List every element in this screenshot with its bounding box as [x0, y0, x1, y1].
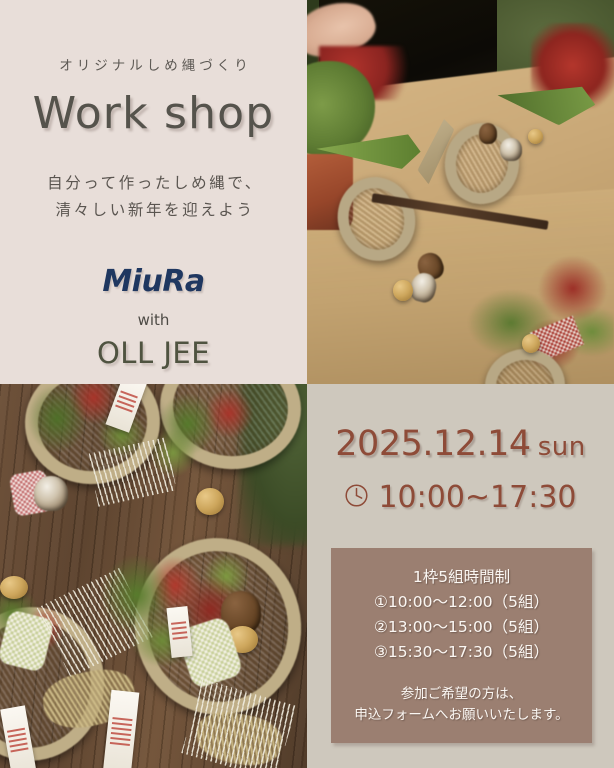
workshop-poster: オリジナルしめ縄づくり Work shop 自分って作ったしめ縄で、 清々しい新… — [0, 0, 614, 768]
event-time-line: 10:00~17:30 — [307, 480, 614, 515]
application-note-line-2: 申込フォームへお願いいたします。 — [331, 705, 592, 726]
lead-line-2: 清々しい新年を迎えよう — [0, 197, 307, 224]
photo-pinecone-white-a — [500, 138, 521, 161]
schedule-box: 1枠5組時間制 ①10:00〜12:00（5組） ②13:00〜15:00（5組… — [331, 548, 592, 743]
event-date: 2025.12.14 — [335, 424, 530, 464]
photo-wreath-bead-c — [196, 488, 224, 515]
schedule-slot-3: ③15:30〜17:30（5組） — [331, 640, 592, 665]
application-note: 参加ご希望の方は、 申込フォームへお願いいたします。 — [331, 684, 592, 726]
page-title: Work shop — [0, 88, 307, 139]
photo-pinecone-a — [479, 123, 497, 144]
brand-olljee-logo: OLL JEE — [0, 336, 307, 370]
lead-line-1: 自分って作ったしめ縄で、 — [0, 170, 307, 197]
schedule-slot-2: ②13:00〜15:00（5組） — [331, 615, 592, 640]
clock-icon — [344, 483, 369, 512]
photo-wreath-bead-a — [0, 576, 28, 599]
schedule-heading: 1枠5組時間制 — [331, 565, 592, 590]
finished-wreaths-photo — [0, 384, 307, 768]
info-panel: 2025.12.14sun 10:00~17:30 1枠5組時間制 ①10:00… — [307, 384, 614, 768]
event-day-of-week: sun — [538, 432, 586, 462]
application-note-line-1: 参加ご希望の方は、 — [331, 684, 592, 705]
workshop-table-photo — [307, 0, 614, 384]
kicker-text: オリジナルしめ縄づくり — [0, 54, 307, 74]
photo-wreath-pinecone-a — [34, 476, 68, 511]
brand-miura-logo: MiuRa — [0, 264, 307, 299]
schedule-list: 1枠5組時間制 ①10:00〜12:00（5組） ②13:00〜15:00（5組… — [331, 565, 592, 665]
event-time-range: 10:00~17:30 — [378, 480, 576, 515]
title-panel: オリジナルしめ縄づくり Work shop 自分って作ったしめ縄で、 清々しい新… — [0, 0, 307, 384]
schedule-slot-1: ①10:00〜12:00（5組） — [331, 590, 592, 615]
event-date-line: 2025.12.14sun — [307, 424, 614, 464]
lead-text: 自分って作ったしめ縄で、 清々しい新年を迎えよう — [0, 170, 307, 224]
brand-connector-label: with — [0, 311, 307, 329]
